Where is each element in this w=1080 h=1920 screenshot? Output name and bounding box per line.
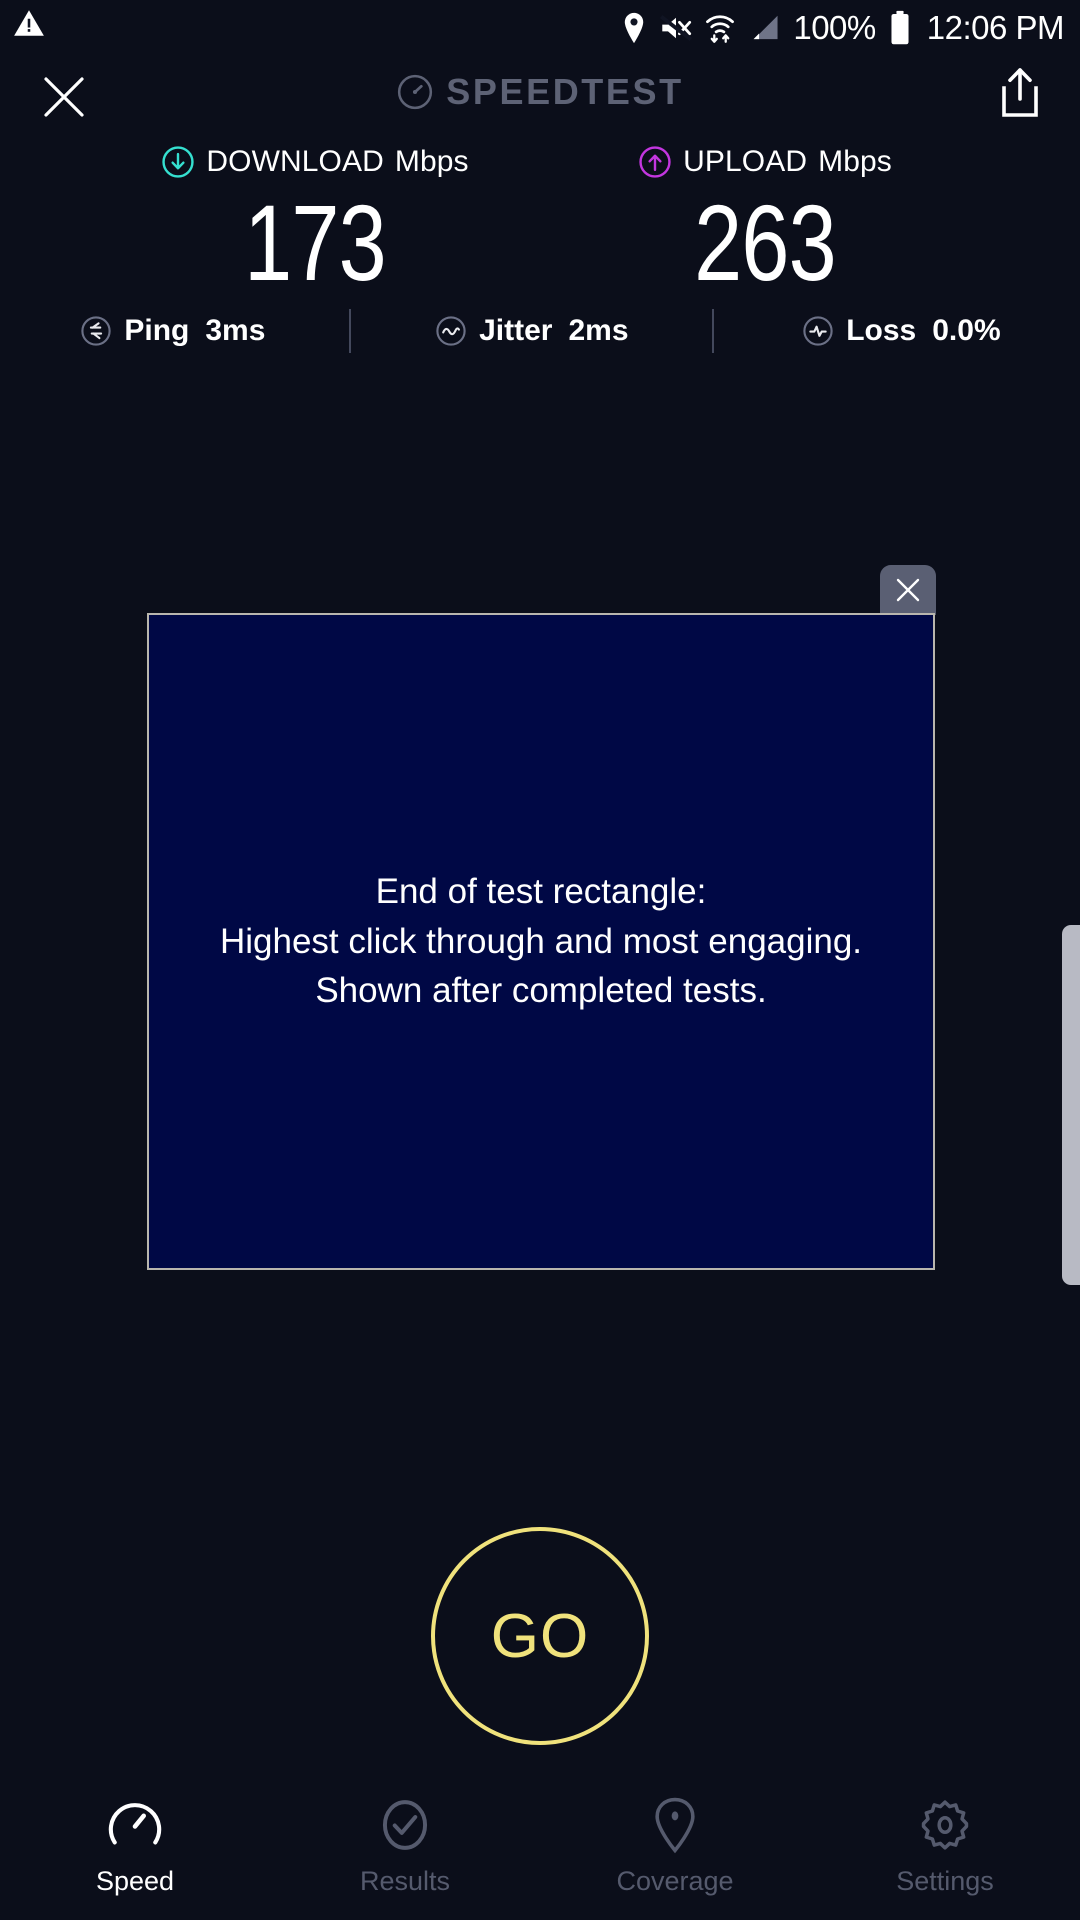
ping-icon [79,314,113,348]
upload-result: UPLOAD Mbps 263 [575,140,955,298]
battery-percent-label: 100% [793,9,875,47]
go-button-label: GO [491,1601,589,1672]
ad-text: End of test rectangle: Highest click thr… [220,867,862,1016]
check-circle-icon [377,1794,433,1856]
ad-line-3: Shown after completed tests. [220,966,862,1016]
brand-logo: SPEEDTEST [0,71,1080,113]
nav-label-speed: Speed [96,1866,174,1897]
status-bar-left-icons [12,6,46,40]
metric-loss: Loss 0.0% [801,314,1000,348]
metric-jitter-value: 2ms [568,314,628,348]
ad-line-2: Highest click through and most engaging. [220,917,862,967]
loss-icon [801,314,835,348]
nav-label-settings: Settings [896,1866,994,1897]
upload-unit: Mbps [818,145,892,179]
metric-loss-label: Loss [846,314,916,348]
nav-label-results: Results [360,1866,450,1897]
warning-triangle-icon [12,6,46,40]
metric-jitter: Jitter 2ms [434,314,628,348]
share-button[interactable] [998,67,1042,124]
speed-results: DOWNLOAD Mbps 173 UPLOAD Mbps 263 [0,140,1080,298]
jitter-icon [434,314,468,348]
close-icon [893,575,923,605]
download-result: DOWNLOAD Mbps 173 [125,140,505,298]
ad-close-button[interactable] [880,565,936,615]
status-bar-clock: 12:06 PM [927,9,1064,47]
metric-ping: Ping 3ms [79,314,265,348]
wifi-icon [705,12,735,44]
metric-divider [349,309,351,353]
arrow-down-circle-icon [161,145,195,179]
nav-item-results[interactable]: Results [270,1780,540,1920]
status-bar: 100% 12:06 PM [0,0,1080,55]
app-header: SPEEDTEST [0,55,1080,145]
download-value: 173 [163,188,467,298]
upload-label: UPLOAD [683,145,807,179]
status-bar-right-icons: 100% 12:06 PM [621,0,1064,55]
metric-jitter-label: Jitter [479,314,552,348]
speedtest-gauge-icon [396,73,434,111]
connection-metrics: Ping 3ms Jitter 2ms Loss 0.0% [0,300,1080,362]
location-pin-icon [649,1794,701,1856]
download-label: DOWNLOAD [206,145,383,179]
location-pin-icon [621,11,647,45]
download-unit: Mbps [395,145,469,179]
upload-value: 263 [613,188,917,298]
advertisement-banner[interactable]: End of test rectangle: Highest click thr… [147,613,935,1270]
cellular-signal-icon [748,13,780,43]
speedtest-app-screen: 100% 12:06 PM SPEEDTEST [0,0,1080,1920]
arrow-up-circle-icon [638,145,672,179]
nav-label-coverage: Coverage [616,1866,733,1897]
gear-icon [917,1794,973,1856]
mute-icon [660,13,692,43]
brand-wordmark: SPEEDTEST [446,71,683,113]
metric-ping-label: Ping [124,314,189,348]
metric-ping-value: 3ms [205,314,265,348]
battery-full-icon [889,10,911,46]
bottom-navigation-bar: Speed Results Coverage [0,1780,1080,1920]
ad-line-1: End of test rectangle: [220,867,862,917]
metric-loss-value: 0.0% [932,314,1000,348]
nav-item-speed[interactable]: Speed [0,1780,270,1920]
nav-item-coverage[interactable]: Coverage [540,1780,810,1920]
nav-item-settings[interactable]: Settings [810,1780,1080,1920]
go-button[interactable]: GO [431,1527,649,1745]
metric-divider [712,309,714,353]
share-icon [998,67,1042,119]
speedometer-icon [106,1794,164,1856]
vertical-scrollbar[interactable] [1062,925,1080,1285]
